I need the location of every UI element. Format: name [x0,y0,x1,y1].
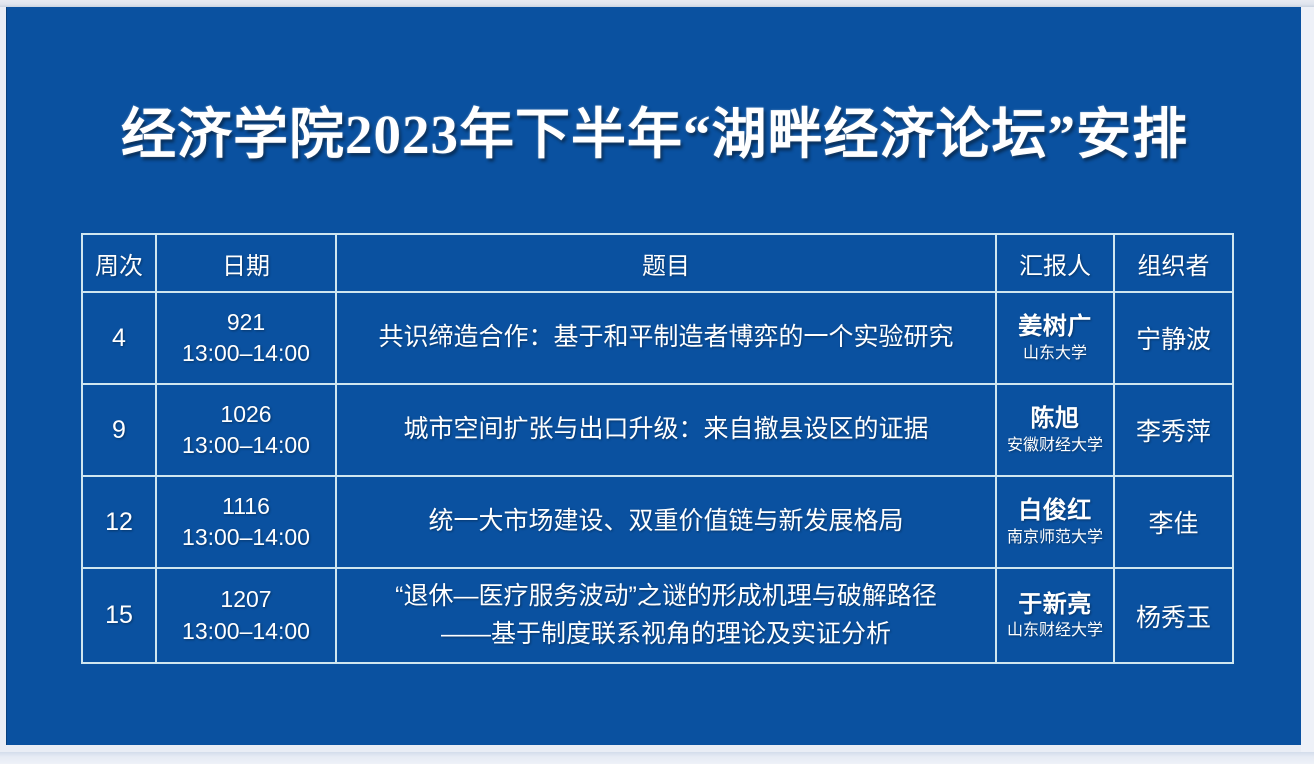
cell-date: 921 13:00–14:00 [156,292,336,384]
column-header-date: 日期 [156,234,336,292]
cell-organizer: 宁静波 [1114,292,1233,384]
time-value: 13:00–14:00 [157,616,335,647]
schedule-table: 周次 日期 题目 汇报人 组织者 4 921 13:00–14:00 共识缔造合… [81,233,1234,664]
topic-line-1: “退休—医疗服务波动”之谜的形成机理与破解路径 [337,578,995,616]
speaker-affiliation: 山东大学 [997,344,1113,363]
cell-date: 1116 13:00–14:00 [156,476,336,568]
date-value: 921 [157,307,335,338]
slide-canvas: 经济学院2023年下半年“湖畔经济论坛”安排 周次 日期 题目 汇报人 组织者 [6,7,1301,745]
column-header-week: 周次 [82,234,156,292]
cell-week: 4 [82,292,156,384]
topic-line-2: ——基于制度联系视角的理论及实证分析 [337,616,995,654]
cell-organizer: 李佳 [1114,476,1233,568]
table-header: 周次 日期 题目 汇报人 组织者 [82,234,1233,292]
speaker-affiliation: 安徽财经大学 [997,436,1113,455]
date-value: 1026 [157,399,335,430]
column-header-speaker: 汇报人 [996,234,1114,292]
speaker-name: 于新亮 [997,591,1113,620]
cell-date: 1207 13:00–14:00 [156,568,336,663]
right-edge-strip [1301,7,1314,752]
speaker-affiliation: 南京师范大学 [997,528,1113,547]
table-header-row: 周次 日期 题目 汇报人 组织者 [82,234,1233,292]
speaker-name: 白俊红 [997,497,1113,526]
time-value: 13:00–14:00 [157,430,335,461]
cell-speaker: 姜树广 山东大学 [996,292,1114,384]
date-value: 1116 [157,491,335,522]
cell-date: 1026 13:00–14:00 [156,384,336,476]
cell-topic: 共识缔造合作：基于和平制造者博弈的一个实验研究 [336,292,996,384]
cell-topic: “退休—医疗服务波动”之谜的形成机理与破解路径 ——基于制度联系视角的理论及实证… [336,568,996,663]
speaker-affiliation: 山东财经大学 [997,621,1113,640]
table-row: 15 1207 13:00–14:00 “退休—医疗服务波动”之谜的形成机理与破… [82,568,1233,663]
cell-week: 12 [82,476,156,568]
cell-speaker: 陈旭 安徽财经大学 [996,384,1114,476]
cell-speaker: 白俊红 南京师范大学 [996,476,1114,568]
cell-organizer: 李秀萍 [1114,384,1233,476]
cell-organizer: 杨秀玉 [1114,568,1233,663]
column-header-topic: 题目 [336,234,996,292]
table-body: 4 921 13:00–14:00 共识缔造合作：基于和平制造者博弈的一个实验研… [82,292,1233,663]
cell-week: 9 [82,384,156,476]
slide-frame: 经济学院2023年下半年“湖畔经济论坛”安排 周次 日期 题目 汇报人 组织者 [0,0,1314,764]
speaker-name: 姜树广 [997,313,1113,342]
column-header-organizer: 组织者 [1114,234,1233,292]
bottom-edge-strip [0,752,1314,764]
cell-topic: 统一大市场建设、双重价值链与新发展格局 [336,476,996,568]
cell-topic: 城市空间扩张与出口升级：来自撤县设区的证据 [336,384,996,476]
table-row: 4 921 13:00–14:00 共识缔造合作：基于和平制造者博弈的一个实验研… [82,292,1233,384]
topic-line-1: 城市空间扩张与出口升级：来自撤县设区的证据 [337,411,995,449]
topic-line-1: 共识缔造合作：基于和平制造者博弈的一个实验研究 [337,319,995,357]
table-row: 9 1026 13:00–14:00 城市空间扩张与出口升级：来自撤县设区的证据… [82,384,1233,476]
date-value: 1207 [157,584,335,615]
time-value: 13:00–14:00 [157,338,335,369]
top-edge-strip [0,0,1314,7]
table-row: 12 1116 13:00–14:00 统一大市场建设、双重价值链与新发展格局 … [82,476,1233,568]
topic-line-1: 统一大市场建设、双重价值链与新发展格局 [337,503,995,541]
cell-week: 15 [82,568,156,663]
time-value: 13:00–14:00 [157,522,335,553]
speaker-name: 陈旭 [997,405,1113,434]
page-title: 经济学院2023年下半年“湖畔经济论坛”安排 [7,89,1302,169]
cell-speaker: 于新亮 山东财经大学 [996,568,1114,663]
